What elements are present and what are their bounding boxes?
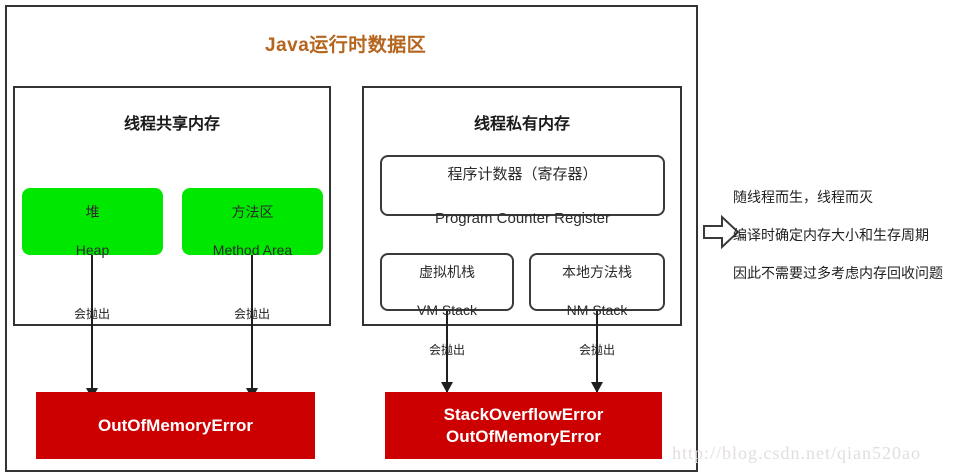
region-program-counter-register[interactable]: 程序计数器（寄存器） Program Counter Register [380,155,665,216]
edge-label-vm-stack-throws: 会抛出 [429,341,465,358]
error-box-stackoverflow-oome-label: StackOverflowError OutOfMemoryError [385,404,662,448]
region-nm-stack-label: 本地方法栈 NM Stack [531,244,663,320]
page-title: Java运行时数据区 [265,30,426,57]
note-line-1: 随线程而生，线程而灭 [733,187,873,207]
region-heap[interactable]: 堆 Heap [22,188,163,255]
region-method-area-label: 方法区 Method Area [182,184,323,260]
region-vm-stack-label: 虚拟机栈 VM Stack [382,244,512,320]
error-box-outofmemoryerror: OutOfMemoryError [36,392,315,459]
thread-private-memory-title: 线程私有内存 [362,110,682,134]
edge-label-nm-stack-throws: 会抛出 [579,341,615,358]
thread-shared-memory-title: 线程共享内存 [13,110,331,134]
edge-label-method-area-throws: 会抛出 [234,305,270,322]
connector-method-area-to-oome [251,255,253,398]
error-box-stackoverflow-oome: StackOverflowError OutOfMemoryError [385,392,662,459]
connector-heap-to-oome [91,255,93,398]
region-method-area[interactable]: 方法区 Method Area [182,188,323,255]
region-nm-stack[interactable]: 本地方法栈 NM Stack [529,253,665,311]
watermark-text: http://blog.csdn.net/qian520ao [672,443,921,464]
diagram-canvas: Java运行时数据区 线程共享内存 堆 Heap 方法区 Method Area… [0,0,958,475]
note-line-2: 编译时确定内存大小和生存周期 [733,225,929,245]
error-box-outofmemoryerror-label: OutOfMemoryError [36,415,315,437]
region-heap-label: 堆 Heap [22,184,163,260]
note-line-3: 因此不需要过多考虑内存回收问题 [733,263,943,283]
region-vm-stack[interactable]: 虚拟机栈 VM Stack [380,253,514,311]
edge-label-heap-throws: 会抛出 [74,305,110,322]
